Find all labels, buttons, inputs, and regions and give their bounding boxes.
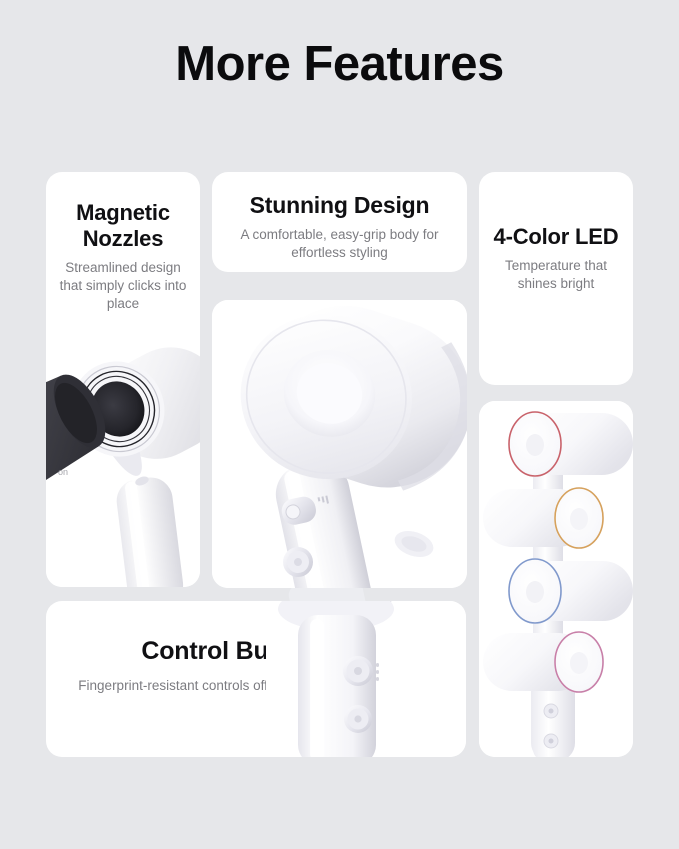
feature-card-four-color-led: 4-Color LED Temperature that shines brig… <box>479 172 633 385</box>
card-header: Stunning Design A comfortable, easy-grip… <box>212 172 467 262</box>
led-unit-4 <box>483 631 604 693</box>
feature-card-magnetic-nozzles: Magnetic Nozzles Streamlined design that… <box>46 172 200 587</box>
four-color-led-photo <box>479 401 633 757</box>
led-unit-3 <box>508 558 633 624</box>
card-title: Magnetic Nozzles <box>58 200 188 252</box>
svg-text:on: on <box>58 467 68 477</box>
magnetic-nozzle-photo: on <box>46 327 200 587</box>
feature-card-control-buttons: Control Buttons Fingerprint-resistant co… <box>46 601 466 757</box>
card-header: 4-Color LED Temperature that shines brig… <box>479 172 633 293</box>
hair-dryer-hero-photo <box>212 300 467 588</box>
page-title: More Features <box>0 38 679 91</box>
card-subtitle: Streamlined design that simply clicks in… <box>58 259 188 312</box>
feature-card-stunning-design: Stunning Design A comfortable, easy-grip… <box>212 172 467 272</box>
control-buttons-photo <box>266 601 466 757</box>
card-subtitle: Temperature that shines bright <box>489 257 623 293</box>
card-header: Magnetic Nozzles Streamlined design that… <box>46 172 200 312</box>
card-subtitle: A comfortable, easy-grip body for effort… <box>228 226 451 262</box>
led-unit-1 <box>508 411 633 477</box>
card-title: Stunning Design <box>228 192 451 219</box>
card-title: 4-Color LED <box>489 224 623 250</box>
product-feature-page: More Features Magnetic Nozzles Streamlin… <box>0 0 679 849</box>
led-unit-2 <box>483 487 604 549</box>
